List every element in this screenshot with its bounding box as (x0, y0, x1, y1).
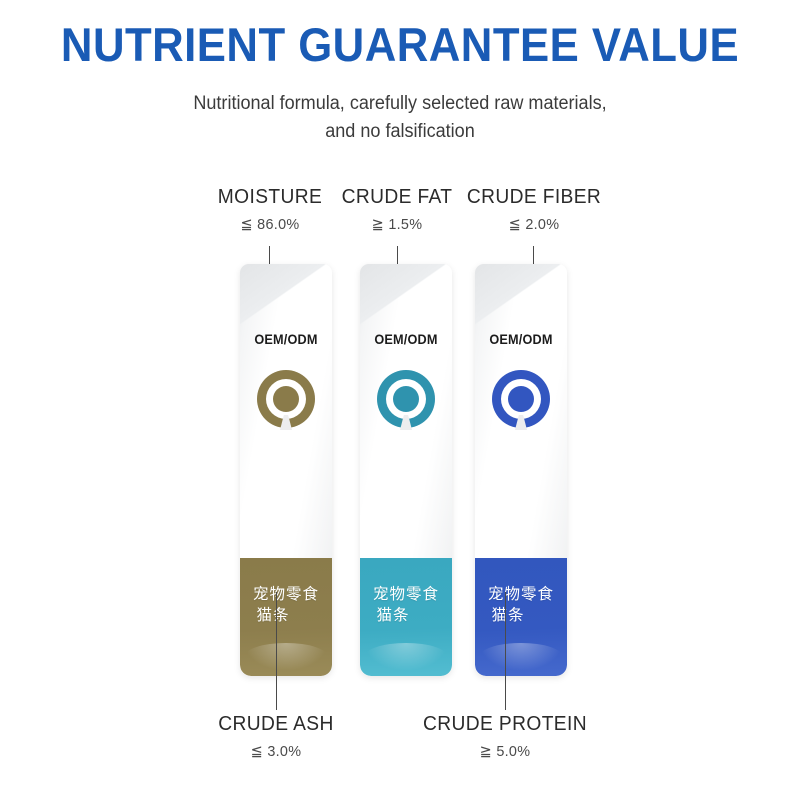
callout-crude-ash: CRUDE ASH ≦ 3.0% (186, 713, 366, 760)
subtitle-line-1: Nutritional formula, carefully selected … (20, 90, 780, 118)
callout-crude-fiber-value: ≦ 2.0% (448, 215, 621, 233)
product-sachet-moisture[interactable]: OEM/ODM PET SNACKS 宠物零食 猫条 (240, 264, 332, 676)
chinese-line-2: 猫条 (240, 605, 332, 626)
brand-label: OEM/ODM (363, 332, 449, 347)
product-name-chinese: 宠物零食 猫条 (240, 584, 332, 626)
infographic-canvas: NUTRIENT GUARANTEE VALUE Nutritional for… (0, 0, 800, 800)
callout-crude-fiber: CRUDE FIBER ≦ 2.0% (444, 186, 624, 233)
brand-label: OEM/ODM (243, 332, 329, 347)
callout-crude-protein-name: CRUDE PROTEIN (419, 713, 592, 736)
brand-label: OEM/ODM (478, 332, 564, 347)
chinese-line-1: 宠物零食 (240, 584, 332, 605)
product-sachet-crude-fiber[interactable]: OEM/ODM PET SNACKS 宠物零食 猫条 (475, 264, 567, 676)
product-name-chinese: 宠物零食 猫条 (475, 584, 567, 626)
logo-center-dot (393, 386, 419, 412)
callout-crude-protein: CRUDE PROTEIN ≧ 5.0% (415, 713, 595, 760)
color-panel: 宠物零食 猫条 (360, 558, 452, 676)
leader-line-crude-protein (505, 592, 506, 710)
logo-center-dot (508, 386, 534, 412)
callout-crude-ash-name: CRUDE ASH (190, 713, 363, 736)
brand-ring-logo (492, 370, 550, 428)
chinese-line-1: 宠物零食 (475, 584, 567, 605)
chinese-line-2: 猫条 (475, 605, 567, 626)
callout-crude-protein-value: ≧ 5.0% (419, 742, 592, 760)
product-sachet-crude-fat[interactable]: OEM/ODM PET SNACKS 宠物零食 猫条 (360, 264, 452, 676)
subtitle-line-2: and no falsification (20, 118, 780, 146)
page-title: NUTRIENT GUARANTEE VALUE (28, 20, 772, 69)
leader-line-crude-ash (276, 592, 277, 710)
brand-ring-logo (377, 370, 435, 428)
brand-ring-logo (257, 370, 315, 428)
chinese-line-1: 宠物零食 (360, 584, 452, 605)
product-name-chinese: 宠物零食 猫条 (360, 584, 452, 626)
page-subtitle: Nutritional formula, carefully selected … (20, 90, 780, 145)
callout-crude-fiber-name: CRUDE FIBER (448, 186, 621, 209)
logo-center-dot (273, 386, 299, 412)
color-panel: 宠物零食 猫条 (475, 558, 567, 676)
callout-crude-ash-value: ≦ 3.0% (190, 742, 363, 760)
chinese-line-2: 猫条 (360, 605, 452, 626)
color-panel: 宠物零食 猫条 (240, 558, 332, 676)
